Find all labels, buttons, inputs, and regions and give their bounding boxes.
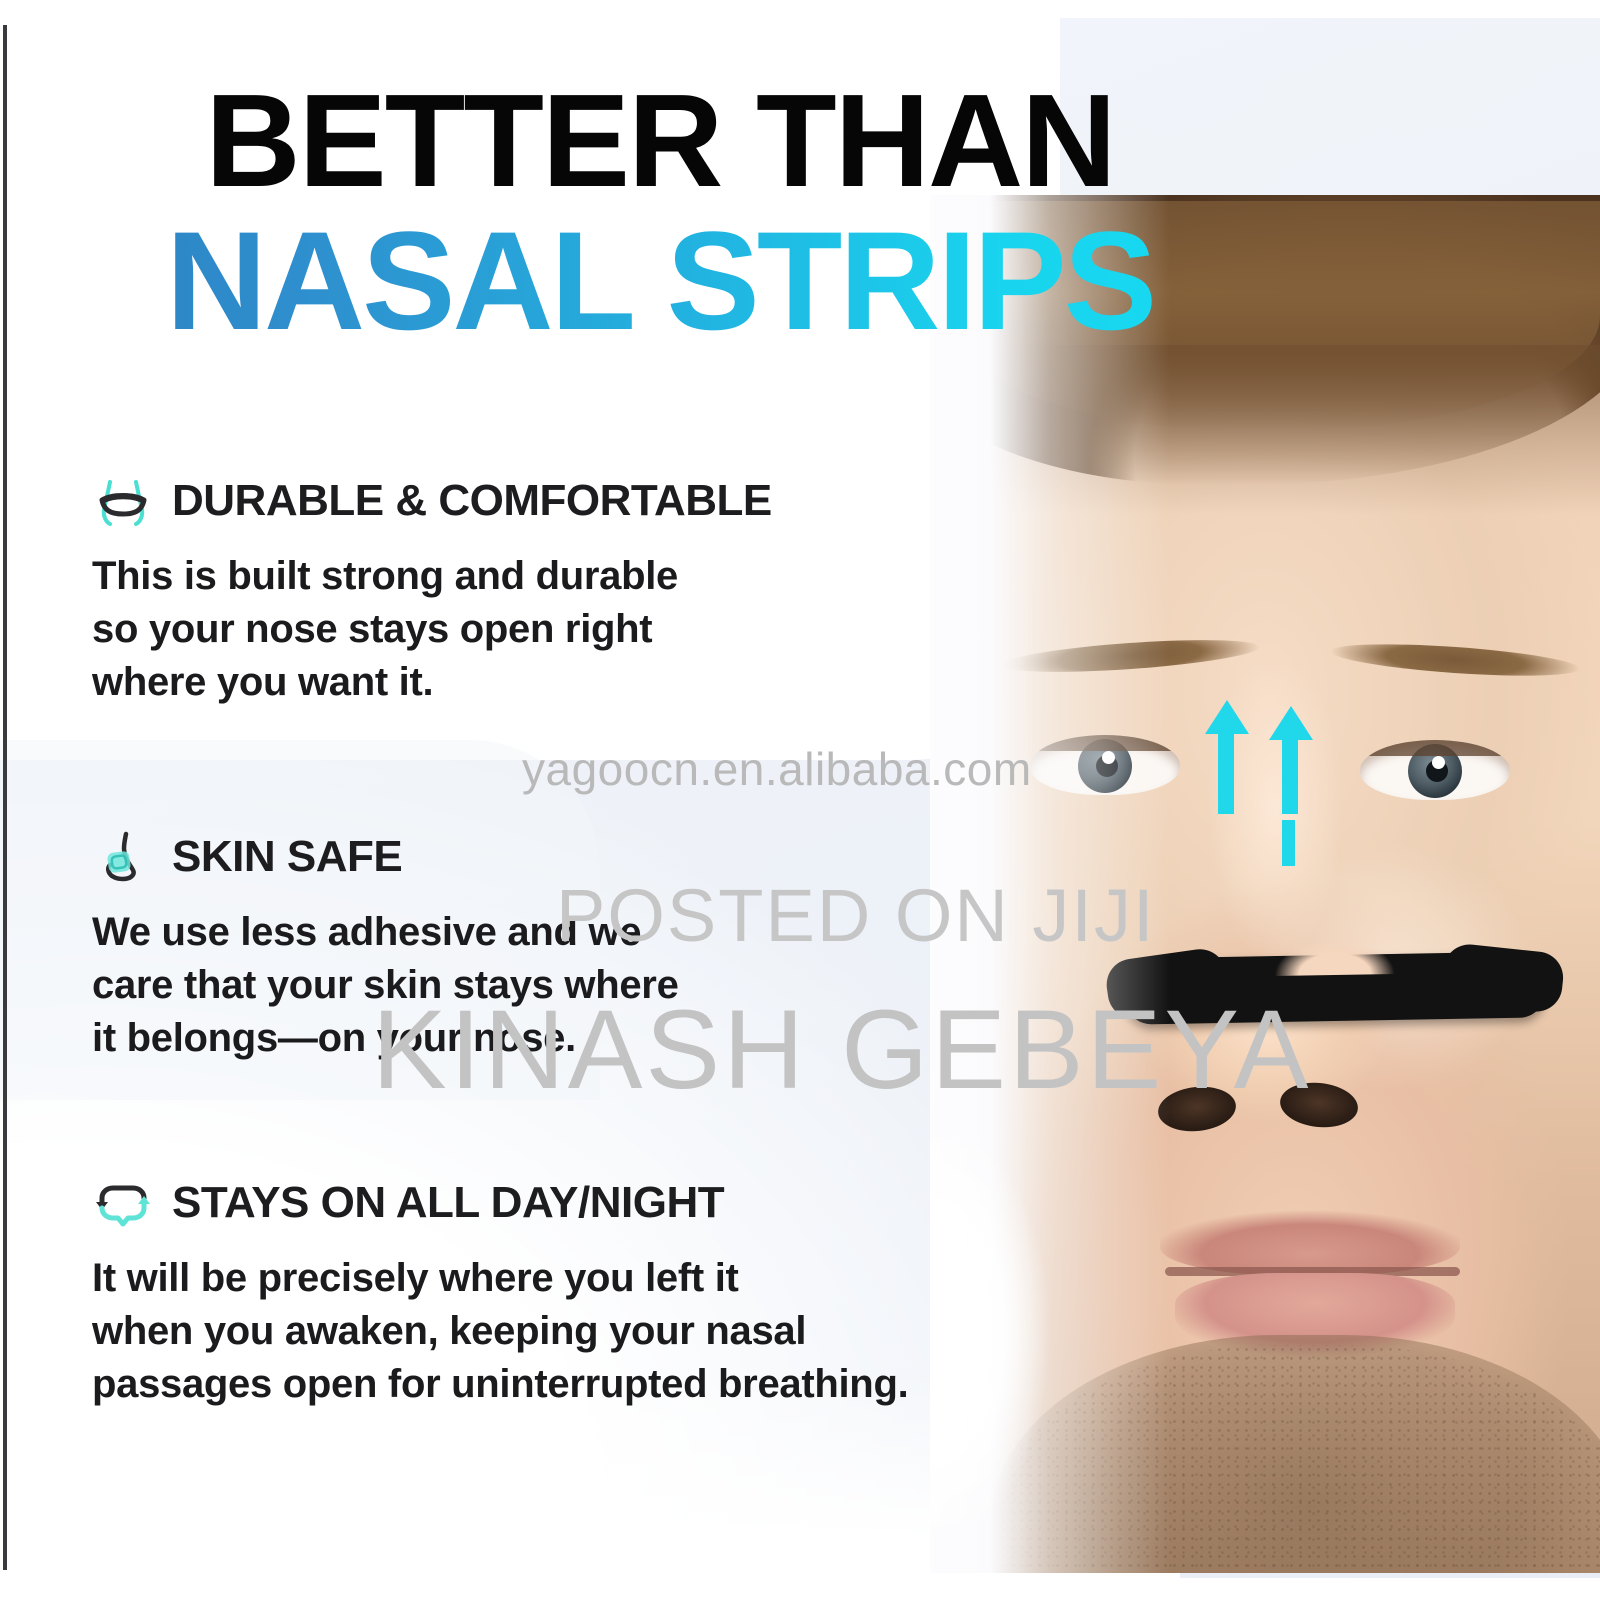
feature-stays-on: STAYS ON ALL DAY/NIGHT It will be precis… <box>92 1172 992 1410</box>
shop-name-watermark: KINASH GEBEYA <box>372 985 1311 1114</box>
feature-3-line-1: It will be precisely where you left it <box>92 1252 992 1305</box>
feature-1-title: DURABLE & COMFORTABLE <box>172 476 772 526</box>
feature-3-body: It will be precisely where you left it w… <box>92 1252 992 1410</box>
feature-3-line-2: when you awaken, keeping your nasal <box>92 1305 992 1358</box>
feature-durable-comfortable: DURABLE & COMFORTABLE This is built stro… <box>92 470 992 708</box>
feature-3-line-3: passages open for uninterrupted breathin… <box>92 1358 992 1411</box>
eye-right <box>1360 740 1510 800</box>
feature-3-header: STAYS ON ALL DAY/NIGHT <box>92 1172 992 1234</box>
nasal-strip-icon <box>92 470 154 532</box>
feature-2-title: SKIN SAFE <box>172 832 402 882</box>
left-edge-rule <box>3 25 7 1570</box>
upper-lip <box>1160 1205 1460 1275</box>
nose-profile-patch-icon <box>92 826 154 888</box>
headline-block: BETTER THAN NASAL STRIPS <box>0 74 1320 351</box>
advertisement-canvas: BETTER THAN NASAL STRIPS DURABLE & COMFO… <box>0 0 1600 1600</box>
headline-line-2: NASAL STRIPS <box>0 211 1320 351</box>
feature-1-line-1: This is built strong and durable <box>92 550 992 603</box>
feature-1-body: This is built strong and durable so your… <box>92 550 992 708</box>
arrow-shaft-right <box>1282 736 1298 814</box>
arrow-head-right <box>1269 706 1313 740</box>
nasal-strip-notch <box>1274 938 1395 976</box>
eyelash-right <box>1360 740 1510 756</box>
loop-arrows-icon <box>92 1172 154 1234</box>
headline-line-1: BETTER THAN <box>0 74 1320 209</box>
feature-1-line-3: where you want it. <box>92 656 992 709</box>
feature-3-title: STAYS ON ALL DAY/NIGHT <box>172 1178 724 1228</box>
supplier-site-watermark: yagoocn.en.alibaba.com <box>522 742 1032 796</box>
posted-on-watermark: POSTED ON JIJI <box>556 873 1156 958</box>
arrow-shaft-left <box>1218 730 1234 814</box>
arrow-shaft-lower <box>1282 820 1295 866</box>
eye-glint-right <box>1432 756 1445 769</box>
arrow-head-left <box>1205 700 1249 734</box>
feature-1-header: DURABLE & COMFORTABLE <box>92 470 992 532</box>
feature-1-line-2: so your nose stays open right <box>92 603 992 656</box>
